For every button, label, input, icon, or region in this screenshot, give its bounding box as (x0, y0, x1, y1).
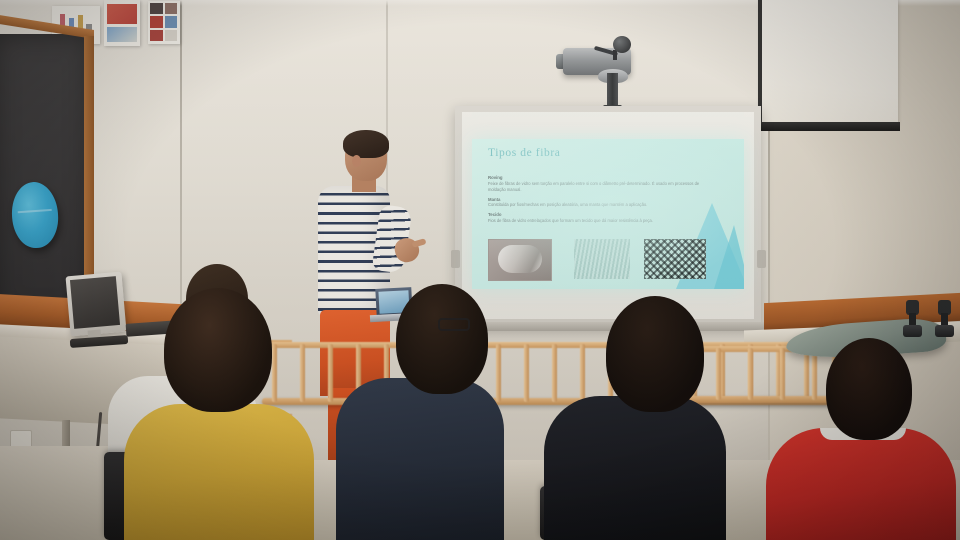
projected-slide: Tipos de fibra Roving Feixe de fibras de… (472, 139, 744, 289)
whiteboard-clip-right (757, 250, 766, 268)
microscope-base (935, 325, 954, 337)
boat-rib (524, 344, 529, 402)
projector-pole (607, 73, 618, 109)
boat-rib (780, 348, 785, 400)
boat-rib (580, 344, 585, 402)
fibre-roll-photo (488, 239, 552, 281)
pulldown-screen (760, 0, 898, 124)
fibre-mat-texture (574, 239, 630, 279)
slide-text-3: Fios de fibra de vidro entrelaçados que … (488, 218, 706, 224)
boat-rib (552, 344, 557, 402)
boat-rib (328, 344, 333, 402)
slide-title: Tipos de fibra (488, 147, 561, 159)
student-black-shirt-torso (544, 396, 726, 540)
classroom-photo: Tipos de fibra Roving Feixe de fibras de… (0, 0, 960, 540)
slide-text-1: Feixe de fibras de vidro sem torção em p… (488, 181, 706, 193)
boat-rib (300, 344, 305, 402)
microscope-1 (906, 300, 920, 340)
slide-body: Roving Feixe de fibras de vidro sem torç… (488, 171, 706, 224)
whiteboard-clip-left (451, 250, 460, 268)
poster-colorful (104, 0, 140, 46)
woven-fabric-texture (644, 239, 706, 279)
student-yellow-shirt-head (164, 288, 272, 412)
pulldown-screen-bar (758, 122, 900, 131)
boat-rib (496, 344, 501, 402)
slide-image-row (488, 239, 732, 281)
boat-rib (716, 348, 721, 400)
student-red-shirt-torso (766, 428, 956, 540)
blackboard (0, 34, 90, 316)
poster-photo-grid (148, 1, 180, 44)
student-navy-hoodie-head (396, 284, 488, 394)
student-navy-hoodie-torso (336, 378, 504, 540)
boat-rib (748, 348, 753, 400)
student-black-shirt-head (606, 296, 704, 412)
presenter-hair (343, 130, 389, 158)
student-glasses-icon (438, 318, 470, 331)
microscope-2 (938, 300, 952, 340)
whiteboard-tray (452, 322, 764, 331)
webcam-icon (613, 36, 631, 53)
microscope-base (903, 325, 922, 337)
boat-rib (272, 344, 277, 402)
monitor-screen (70, 276, 120, 329)
slide-text-2: Constituída por fios/mechas em posição a… (488, 202, 706, 208)
student-yellow-shirt-torso (124, 404, 314, 540)
student-red-shirt-head (826, 338, 912, 440)
presenter-ear (352, 155, 361, 167)
